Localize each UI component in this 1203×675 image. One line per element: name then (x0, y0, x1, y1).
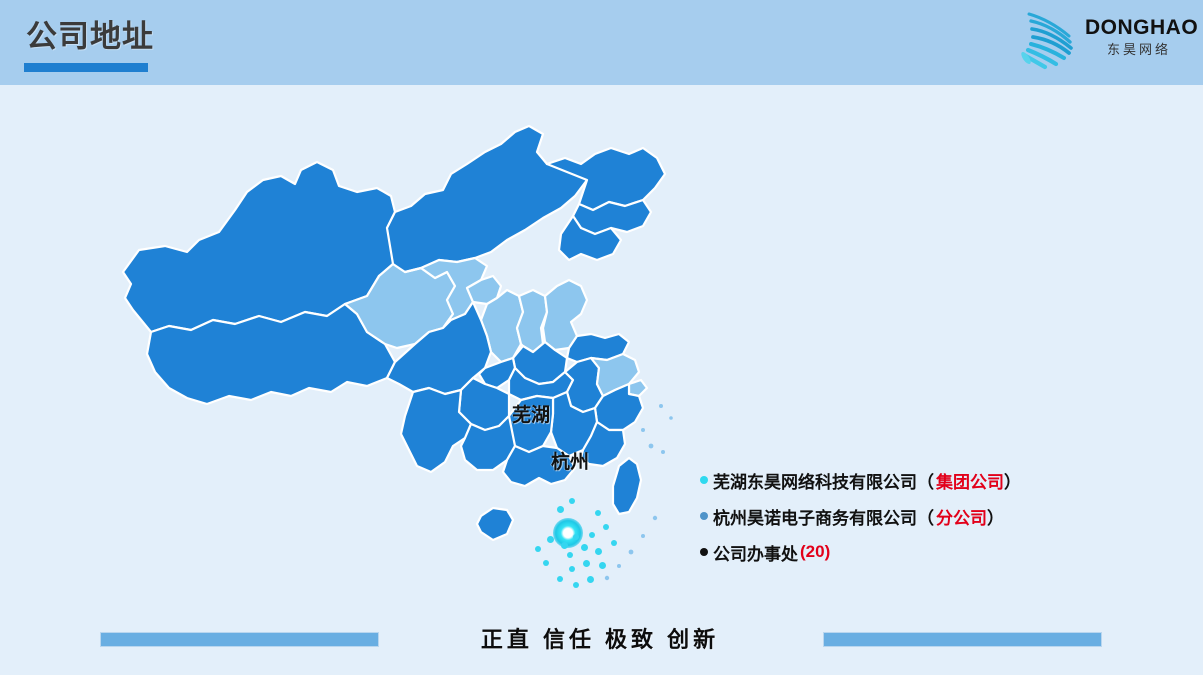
legend-item-branch-company[interactable]: 杭州昊诺电子商务有限公司 （ 分公司 ） (700, 498, 1120, 534)
office-dot[interactable] (581, 544, 588, 551)
company-logo: DONGHAO 东昊网络 (1015, 8, 1191, 72)
office-dot[interactable] (583, 560, 590, 567)
legend-note: 分公司 (936, 504, 987, 529)
office-dot[interactable] (561, 542, 568, 549)
office-dot[interactable] (573, 582, 579, 588)
legend: 芜湖东昊网络科技有限公司 （ 集团公司 ） 杭州昊诺电子商务有限公司 （ 分公司… (700, 462, 1120, 570)
footer-slogan: 正直 信任 极致 创新 (440, 622, 760, 654)
map-region-inner-mongolia (387, 126, 587, 272)
logo-name: DONGHAO (1085, 16, 1193, 40)
china-map-svg (95, 100, 755, 610)
office-dot[interactable] (569, 566, 575, 572)
office-dot[interactable] (557, 576, 563, 582)
office-dot[interactable] (587, 576, 594, 583)
office-dot[interactable] (595, 548, 602, 555)
wuhu-headquarters-marker[interactable] (553, 518, 583, 548)
title-underline (24, 63, 148, 72)
legend-label: 公司办事处 (713, 540, 798, 565)
map-label-wuhu: 芜湖 (512, 400, 550, 427)
map-region-taiwan (613, 458, 641, 514)
china-map (95, 100, 755, 610)
office-dot[interactable] (557, 506, 564, 513)
legend-note-open: （ (917, 468, 934, 493)
map-region-yunnan (401, 388, 471, 472)
legend-note: (20) (800, 542, 830, 562)
legend-note: 集团公司 (936, 468, 1004, 493)
page-header: 公司地址 DONGHAO 东昊网络 (0, 0, 1203, 85)
office-dot[interactable] (611, 540, 617, 546)
legend-note-close: ） (987, 504, 1004, 529)
map-region-hainan (477, 508, 513, 540)
logo-text-block: DONGHAO 东昊网络 (1085, 16, 1193, 59)
office-dot[interactable] (547, 536, 554, 543)
legend-label: 杭州昊诺电子商务有限公司 (713, 504, 917, 529)
legend-note-open: （ (917, 504, 934, 529)
logo-subtitle: 东昊网络 (1085, 41, 1193, 59)
footer-bar-right (823, 632, 1102, 647)
legend-bullet-icon (700, 548, 708, 556)
office-dot[interactable] (569, 498, 575, 504)
legend-bullet-icon (700, 512, 708, 520)
office-dot[interactable] (543, 560, 549, 566)
legend-bullet-icon (700, 476, 708, 484)
office-dot[interactable] (589, 532, 595, 538)
office-dot[interactable] (573, 534, 579, 540)
legend-note-close: ） (1004, 468, 1021, 493)
office-dot[interactable] (595, 510, 601, 516)
page-title: 公司地址 (26, 18, 154, 56)
office-dot[interactable] (535, 546, 541, 552)
office-dot[interactable] (567, 552, 573, 558)
feather-wing-logo-icon (1017, 8, 1087, 70)
map-label-hangzhou: 杭州 (551, 447, 589, 474)
legend-item-offices[interactable]: 公司办事处 (20) (700, 534, 1120, 570)
legend-item-group-company[interactable]: 芜湖东昊网络科技有限公司 （ 集团公司 ） (700, 462, 1120, 498)
legend-label: 芜湖东昊网络科技有限公司 (713, 468, 917, 493)
office-dot[interactable] (603, 524, 609, 530)
footer-bar-left (100, 632, 379, 647)
office-dot[interactable] (599, 562, 606, 569)
